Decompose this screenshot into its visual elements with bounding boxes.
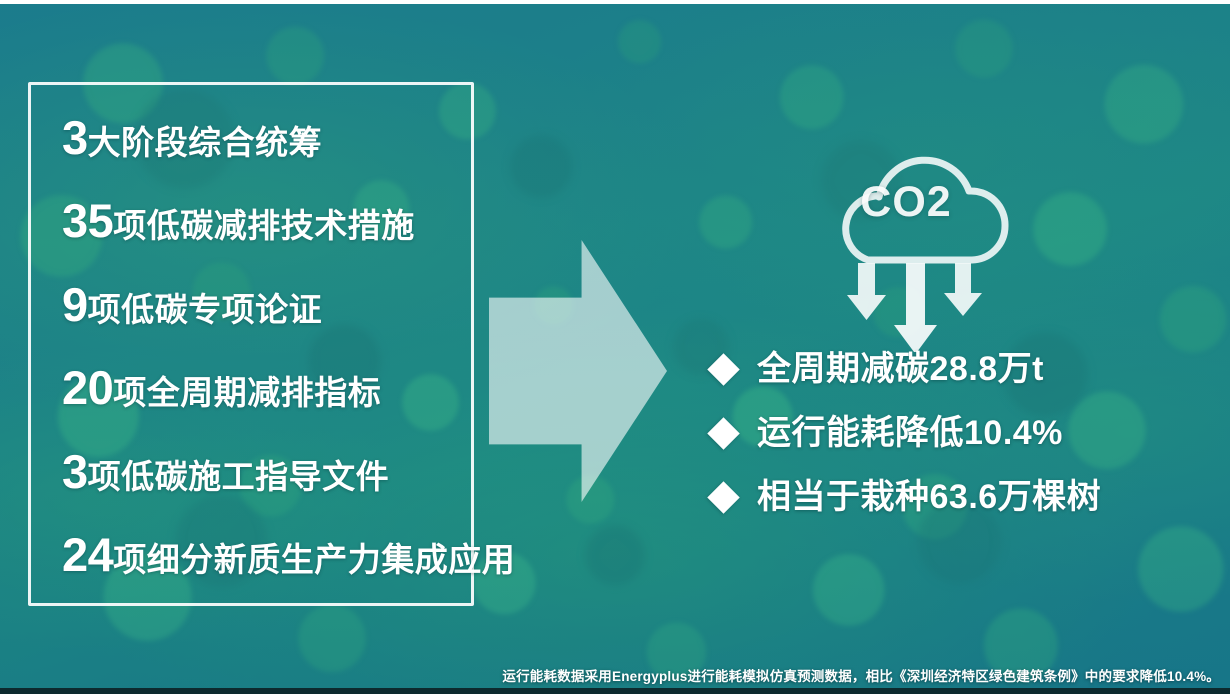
- slide-canvas: 3 大阶段综合统筹 35 项低碳减排技术措施 9 项低碳专项论证 20 项全周期…: [0, 0, 1230, 694]
- stat-label: 项低碳专项论证: [88, 293, 323, 326]
- stat-number: 35: [62, 197, 113, 244]
- stat-label: 项低碳减排技术措施: [113, 209, 415, 242]
- list-item: 9 项低碳专项论证: [62, 281, 482, 328]
- stat-label: 项低碳施工指导文件: [88, 460, 390, 493]
- stat-number: 24: [62, 531, 113, 578]
- result-text: 运行能耗降低10.4%: [757, 416, 1063, 450]
- list-item: 全周期减碳28.8万t: [712, 352, 1182, 386]
- down-arrow-icon: [894, 263, 937, 352]
- result-text: 全周期减碳28.8万t: [757, 352, 1044, 386]
- stat-label: 项细分新质生产力集成应用: [113, 543, 515, 576]
- top-edge-strip: [0, 0, 1230, 4]
- stat-number: 3: [62, 114, 88, 161]
- list-item: 3 大阶段综合统筹: [62, 114, 482, 161]
- cloud-icon: [806, 122, 1028, 352]
- list-item: 20 项全周期减排指标: [62, 364, 482, 411]
- diamond-bullet-icon: [707, 417, 740, 450]
- stat-label: 大阶段综合统筹: [88, 126, 323, 159]
- footnote: 运行能耗数据采用Energyplus进行能耗模拟仿真预测数据，相比《深圳经济特区…: [502, 665, 1220, 685]
- stat-number: 20: [62, 364, 113, 411]
- bottom-edge-strip: [0, 688, 1230, 694]
- stat-label: 项全周期减排指标: [113, 376, 381, 409]
- down-arrow-icon: [847, 263, 886, 320]
- diamond-bullet-icon: [707, 353, 740, 386]
- list-item: 相当于栽种63.6万棵树: [712, 480, 1182, 514]
- diamond-bullet-icon: [707, 481, 740, 514]
- down-arrow-icon: [944, 263, 982, 316]
- stat-number: 3: [62, 448, 88, 495]
- list-item: 35 项低碳减排技术措施: [62, 197, 482, 244]
- stats-list: 3 大阶段综合统筹 35 项低碳减排技术措施 9 项低碳专项论证 20 项全周期…: [62, 108, 482, 588]
- co2-cloud-graphic: CO2: [806, 122, 1028, 352]
- list-item: 3 项低碳施工指导文件: [62, 448, 482, 495]
- list-item: 24 项细分新质生产力集成应用: [62, 531, 482, 578]
- results-list: 全周期减碳28.8万t 运行能耗降低10.4% 相当于栽种63.6万棵树: [712, 352, 1182, 514]
- co2-label: CO2: [806, 178, 1006, 227]
- result-text: 相当于栽种63.6万棵树: [757, 480, 1101, 514]
- list-item: 运行能耗降低10.4%: [712, 416, 1182, 450]
- stat-number: 9: [62, 281, 88, 328]
